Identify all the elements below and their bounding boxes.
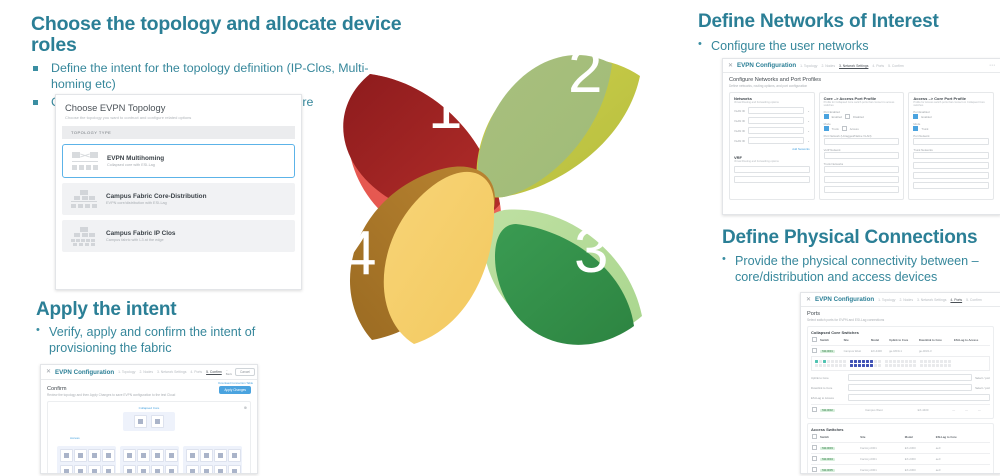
apply-changes-button[interactable]: Apply Changes xyxy=(219,386,251,394)
select-all-checkbox[interactable] xyxy=(811,432,819,443)
access-node-group[interactable] xyxy=(120,446,179,474)
access-node[interactable] xyxy=(123,465,136,474)
close-icon[interactable]: ✕ xyxy=(46,369,51,375)
column-header: Model xyxy=(870,335,888,346)
access-node[interactable] xyxy=(186,465,199,474)
field-row[interactable] xyxy=(913,138,989,145)
cell-switch: SW-0003 xyxy=(819,443,859,454)
breadcrumb-item-active[interactable]: 3. Network Settings xyxy=(839,64,868,68)
access-node[interactable] xyxy=(74,449,87,462)
access-node[interactable] xyxy=(151,465,164,474)
cell-site: Factory-0001 xyxy=(859,443,903,454)
uplink-input[interactable] xyxy=(848,374,972,381)
pinwheel-petal-3 xyxy=(482,209,642,344)
cell-switch: SW-0004 xyxy=(819,454,859,465)
topology-option-desc: Campus fabric with L3 at the edge xyxy=(106,238,176,242)
row-checkbox[interactable] xyxy=(811,405,819,416)
field-row[interactable] xyxy=(913,182,989,189)
cell-model: EX-2300 xyxy=(904,443,935,454)
zoom-icon[interactable]: ⊕ xyxy=(244,405,247,410)
field-row[interactable] xyxy=(824,138,900,145)
breadcrumb-item[interactable]: 4. Ports xyxy=(190,370,202,374)
radio-access[interactable] xyxy=(842,126,847,131)
config-columns: Networks Virtual Routing and Forwarding … xyxy=(729,92,994,200)
field-row[interactable] xyxy=(824,152,900,159)
screenshot-titlebar: ✕ EVPN Configuration 1. Topology 2. Node… xyxy=(723,59,1000,73)
field-row[interactable]: VLAN ID⌄ xyxy=(734,127,810,134)
select-input[interactable] xyxy=(913,138,989,145)
field-row[interactable] xyxy=(824,166,900,173)
chevron-down-icon[interactable]: ⌄ xyxy=(807,129,809,133)
access-node[interactable] xyxy=(165,465,178,474)
column-header: ESI-Lag to Access xyxy=(953,335,990,346)
breadcrumb-item[interactable]: 2. Nodes xyxy=(899,298,913,302)
list-item: Provide the physical connectivity betwee… xyxy=(722,253,1000,285)
screenshot-titlebar: ✕ EVPN Configuration 1. Topology 2. Node… xyxy=(41,365,257,380)
access-node[interactable] xyxy=(214,465,227,474)
topology-option-ip-clos[interactable]: Campus Fabric IP Clos Campus fabric with… xyxy=(62,220,295,252)
topology-option-name: Campus Fabric Core-Distribution xyxy=(106,193,206,200)
radio-enabled[interactable] xyxy=(913,114,918,119)
topology-option-desc: Collapsed core with ESI-Lag xyxy=(107,163,164,167)
cell-downlink: ge-0/0/2-3 xyxy=(918,346,953,357)
pinwheel-number-3: 3 xyxy=(574,217,608,286)
breadcrumb[interactable]: 1. Topology 2. Nodes 3. Network Settings… xyxy=(118,370,222,374)
radio-enabled[interactable] xyxy=(824,114,829,119)
field-label: VLAN ID xyxy=(734,109,745,113)
field-row[interactable]: VLAN ID⌄ xyxy=(734,117,810,124)
core-node-group[interactable] xyxy=(123,412,175,431)
breadcrumb-item[interactable]: 5. Confirm xyxy=(966,298,982,302)
bottom-right-heading: Define Physical Connections xyxy=(722,228,1000,249)
field-input[interactable] xyxy=(748,137,804,144)
breadcrumb-item[interactable]: 5. Confirm xyxy=(888,64,904,68)
screenshot-body: Ports Select switch ports for EVPN and E… xyxy=(801,307,1000,474)
cell-switch: SW-0005 xyxy=(819,465,859,475)
core-to-access-profile-column[interactable]: Core –> Access Port Profile Profile for … xyxy=(819,92,905,200)
page-subtitle: Select switch ports for EVPN and ESI-Lag… xyxy=(807,318,994,322)
collapsed-core-label: Collapsed Core xyxy=(52,406,246,410)
pinwheel-number-1: 1 xyxy=(428,73,462,142)
top-right-bullets: Configure the user networks xyxy=(698,38,998,54)
screenshot-titlebar: ✕ EVPN Configuration 1. Topology 2. Node… xyxy=(801,293,1000,307)
networks-column[interactable]: Networks Virtual Routing and Forwarding … xyxy=(729,92,815,200)
table-header-row: Switch Site Model ESI-Lag to Core xyxy=(811,432,990,443)
select-input[interactable] xyxy=(913,182,989,189)
column-subtitle: Profile for Access switch ports that con… xyxy=(913,101,989,107)
topology-panel-title: Choose EVPN Topology xyxy=(56,95,301,113)
access-node[interactable] xyxy=(123,449,136,462)
cell-esilag: ae0 xyxy=(935,443,990,454)
select-input[interactable] xyxy=(824,152,900,159)
esilag-input[interactable] xyxy=(848,394,990,401)
table-row: SW-0001 Campus West EX-4400 ge-0/0/0-1 g… xyxy=(811,346,990,357)
pinwheel-diagram: 1 2 3 4 xyxy=(315,4,685,404)
collapsed-core-table[interactable]: Switch Site Model Uplink to Core Downlin… xyxy=(811,335,990,356)
breadcrumb-item-active[interactable]: 5. Confirm xyxy=(206,370,222,374)
table-row: SW-0002 Campus West EX-4400 — — — xyxy=(811,405,990,416)
chevron-down-icon[interactable]: ⌄ xyxy=(807,139,809,143)
access-label: Access xyxy=(70,436,246,440)
field-hint: Select / port xyxy=(975,376,990,380)
cell-esilag: — xyxy=(977,405,990,416)
cell-esilag xyxy=(953,346,990,357)
row-checkbox[interactable] xyxy=(811,465,819,475)
chevron-down-icon[interactable]: ⌄ xyxy=(807,119,809,123)
pinwheel-number-4: 4 xyxy=(342,219,376,288)
downlink-field-row[interactable]: Downlink to Core Select / port xyxy=(811,384,990,391)
access-node[interactable] xyxy=(151,449,164,462)
radio-label: Enabled xyxy=(921,115,931,119)
select-input[interactable] xyxy=(824,166,900,173)
breadcrumb-item[interactable]: 1. Topology xyxy=(878,298,895,302)
cell-model: EX-2300 xyxy=(904,454,935,465)
row-checkbox[interactable] xyxy=(811,454,819,465)
access-node[interactable] xyxy=(102,449,115,462)
column-header: Switch xyxy=(819,432,859,443)
port-block-1[interactable] xyxy=(815,360,846,367)
esilag-field-row[interactable]: ESI-Lag to Access xyxy=(811,394,990,401)
access-node[interactable] xyxy=(200,449,213,462)
field-row[interactable] xyxy=(913,152,989,159)
radio-label: Enabled xyxy=(832,115,842,119)
column-header: Uplink to Core xyxy=(888,335,918,346)
column-header: ESI-Lag to Core xyxy=(935,432,990,443)
collapsed-core-table-row2[interactable]: SW-0002 Campus West EX-4400 — — — xyxy=(811,404,990,415)
access-node[interactable] xyxy=(88,465,101,474)
back-button[interactable]: ← Back xyxy=(226,368,232,376)
column-header: Model xyxy=(904,432,935,443)
access-node[interactable] xyxy=(102,465,115,474)
radio-disabled[interactable] xyxy=(845,114,850,119)
bottom-right-bullets: Provide the physical connectivity betwee… xyxy=(722,253,1000,285)
table-row: SW-0003 Factory-0001 EX-2300 ae0 xyxy=(811,443,990,454)
section-bottom-right: Define Physical Connections Provide the … xyxy=(722,228,1000,287)
access-node-group[interactable] xyxy=(183,446,242,474)
field-row[interactable] xyxy=(913,172,989,179)
evpn-multihoming-icon xyxy=(72,152,98,170)
list-item: Verify, apply and confirm the intent of … xyxy=(36,324,316,356)
ip-clos-icon xyxy=(71,227,97,245)
field-label: VLAN ID xyxy=(734,139,745,143)
pinwheel-petal-2 xyxy=(477,55,640,197)
cell-site: Factory-0001 xyxy=(859,465,903,475)
cell-model: EX-2300 xyxy=(904,465,935,475)
field-input[interactable] xyxy=(748,107,804,114)
radio-label: Access xyxy=(850,127,859,131)
cell-model: EX-4400 xyxy=(870,346,888,357)
screenshot-body: Configure Networks and Port Profiles Def… xyxy=(723,73,1000,204)
access-node[interactable] xyxy=(228,465,241,474)
row-checkbox[interactable] xyxy=(811,443,819,454)
breadcrumb-item[interactable]: 1. Topology xyxy=(800,64,817,68)
access-switches-table[interactable]: Switch Site Model ESI-Lag to Core SW-000… xyxy=(811,432,990,474)
cancel-button[interactable]: Cancel xyxy=(235,368,255,376)
radio-row[interactable]: Enabled xyxy=(913,114,989,119)
field-label: VLAN ID xyxy=(734,129,745,133)
page-subtitle: Define networks, routing options, and po… xyxy=(729,84,994,88)
column-header: Site xyxy=(859,432,903,443)
access-node-groups xyxy=(52,446,246,474)
titlebar-actions: ← Back Cancel xyxy=(226,368,255,376)
breadcrumb-item[interactable]: 3. Network Settings xyxy=(157,370,186,374)
select-all-checkbox[interactable] xyxy=(811,335,819,346)
topology-option-core-distribution[interactable]: Campus Fabric Core-Distribution EVPN cor… xyxy=(62,183,295,215)
cell-site: Campus West xyxy=(843,346,870,357)
topology-option-desc: EVPN core/distribution with ESI-Lag xyxy=(106,201,206,205)
column-header: Site xyxy=(843,335,870,346)
section-bottom-left: Apply the intent Verify, apply and confi… xyxy=(36,300,316,358)
field-label: Uplink to Core xyxy=(811,376,845,380)
close-icon[interactable]: ✕ xyxy=(806,297,811,303)
select-input[interactable] xyxy=(913,162,989,169)
page-title: Confirm xyxy=(47,386,219,392)
choose-evpn-topology-panel[interactable]: Choose EVPN Topology Choose the topology… xyxy=(55,94,302,290)
table-header-row: Switch Site Model Uplink to Core Downlin… xyxy=(811,335,990,346)
port-block-4[interactable] xyxy=(920,360,951,367)
access-node[interactable] xyxy=(137,465,150,474)
cell-switch: SW-0001 xyxy=(819,346,843,357)
select-input[interactable] xyxy=(824,138,900,145)
page-title: Ports xyxy=(807,311,994,317)
section-top-right: Define Networks of Interest Configure th… xyxy=(698,12,998,56)
select-input[interactable] xyxy=(913,152,989,159)
radio-row[interactable]: TrunkAccess xyxy=(824,126,900,131)
chevron-down-icon[interactable]: ⌄ xyxy=(807,109,809,113)
access-node[interactable] xyxy=(165,449,178,462)
topology-option-name: EVPN Multihoming xyxy=(107,155,164,162)
radio-row[interactable]: Trunk xyxy=(913,126,989,131)
radio-label: Disabled xyxy=(853,115,864,119)
access-node[interactable] xyxy=(74,465,87,474)
column-header: Downlink to Core xyxy=(918,335,953,346)
pinwheel-number-2: 2 xyxy=(568,37,602,106)
field-row[interactable] xyxy=(824,176,900,183)
confirm-screenshot[interactable]: ✕ EVPN Configuration 1. Topology 2. Node… xyxy=(40,364,258,474)
more-icon[interactable]: ⋯ xyxy=(989,63,995,69)
field-input[interactable] xyxy=(734,176,810,183)
page-subtitle: Review the topology and then Apply Chang… xyxy=(47,393,219,397)
field-input[interactable] xyxy=(748,127,804,134)
field-row[interactable] xyxy=(734,166,810,173)
field-hint: Select / port xyxy=(975,386,990,390)
access-node[interactable] xyxy=(88,449,101,462)
cell-esilag: ae0 xyxy=(935,465,990,475)
breadcrumb-item-active[interactable]: 4. Ports xyxy=(950,298,962,302)
radio-label: Trunk xyxy=(832,127,839,131)
breadcrumb-item[interactable]: 2. Nodes xyxy=(139,370,153,374)
uplink-field-row[interactable]: Uplink to Core Select / port xyxy=(811,374,990,381)
cell-site: Factory-0001 xyxy=(859,454,903,465)
column-subtitle: Virtual Routing and Forwarding options xyxy=(734,101,810,104)
cell-downlink: — xyxy=(964,405,977,416)
add-networks-link[interactable]: Add Networks xyxy=(734,147,810,151)
cell-model: EX-4400 xyxy=(917,405,952,416)
ports-screenshot[interactable]: ✕ EVPN Configuration 1. Topology 2. Node… xyxy=(800,292,1000,474)
field-input[interactable] xyxy=(748,117,804,124)
field-label: Downlink to Core xyxy=(811,386,845,390)
radio-row[interactable]: EnabledDisabled xyxy=(824,114,900,119)
radio-trunk[interactable] xyxy=(824,126,829,131)
field-row[interactable]: VLAN ID⌄ xyxy=(734,137,810,144)
access-node[interactable] xyxy=(228,449,241,462)
core-node[interactable] xyxy=(151,415,164,428)
port-block-2[interactable] xyxy=(850,360,881,367)
table-row: SW-0005 Factory-0001 EX-2300 ae0 xyxy=(811,465,990,475)
field-label: ESI-Lag to Access xyxy=(811,396,845,400)
field-row[interactable] xyxy=(734,176,810,183)
list-item: Configure the user networks xyxy=(698,38,998,54)
topology-option-evpn-multihoming[interactable]: EVPN Multihoming Collapsed core with ESI… xyxy=(62,144,295,178)
app-title: EVPN Configuration xyxy=(737,62,796,69)
column-subtitle: Profile for Collapsed Core switch ports … xyxy=(824,101,900,107)
close-icon[interactable]: ✕ xyxy=(728,63,733,69)
cell-uplink: ge-0/0/0-1 xyxy=(888,346,918,357)
breadcrumb-item[interactable]: 1. Topology xyxy=(118,370,135,374)
select-input[interactable] xyxy=(824,186,900,193)
access-to-core-profile-column[interactable]: Access –> Core Port Profile Profile for … xyxy=(908,92,994,200)
app-title: EVPN Configuration xyxy=(55,369,114,376)
select-input[interactable] xyxy=(824,176,900,183)
breadcrumb[interactable]: 1. Topology 2. Nodes 3. Network Settings… xyxy=(800,64,904,68)
access-node[interactable] xyxy=(60,449,73,462)
field-label: VLAN ID xyxy=(734,119,745,123)
networks-settings-screenshot[interactable]: ✕ EVPN Configuration 1. Topology 2. Node… xyxy=(722,58,1000,215)
access-node[interactable] xyxy=(186,449,199,462)
vrf-subtitle: Virtual Routing and Forwarding options xyxy=(734,160,810,163)
downlink-input[interactable] xyxy=(848,384,972,391)
topology-option-text: EVPN Multihoming Collapsed core with ESI… xyxy=(107,155,164,168)
page-title: Configure Networks and Port Profiles xyxy=(729,77,994,83)
breadcrumb-item[interactable]: 2. Nodes xyxy=(821,64,835,68)
breadcrumb[interactable]: 1. Topology 2. Nodes 3. Network Settings… xyxy=(878,298,982,302)
topology-option-text: Campus Fabric Core-Distribution EVPN cor… xyxy=(106,193,206,206)
core-distribution-icon xyxy=(71,190,97,208)
cell-uplink: — xyxy=(951,405,964,416)
row-checkbox[interactable] xyxy=(811,346,819,357)
topology-option-name: Campus Fabric IP Clos xyxy=(106,230,176,237)
radio-trunk[interactable] xyxy=(913,126,918,131)
radio-label: Trunk xyxy=(921,127,928,131)
screenshot-body: Confirm Review the topology and then App… xyxy=(41,386,257,474)
top-right-heading: Define Networks of Interest xyxy=(698,12,998,33)
field-row[interactable] xyxy=(913,162,989,169)
access-node[interactable] xyxy=(60,465,73,474)
field-row[interactable]: VLAN ID⌄ xyxy=(734,107,810,114)
topology-option-text: Campus Fabric IP Clos Campus fabric with… xyxy=(106,230,176,243)
cell-site: Campus West xyxy=(864,405,917,416)
topology-panel-subtitle: Choose the topology you want to contruct… xyxy=(56,113,301,126)
bottom-left-heading: Apply the intent xyxy=(36,300,316,321)
access-node[interactable] xyxy=(137,449,150,462)
port-block-3[interactable] xyxy=(885,360,916,367)
cell-esilag: ae0 xyxy=(935,454,990,465)
access-node[interactable] xyxy=(200,465,213,474)
select-input[interactable] xyxy=(913,172,989,179)
breadcrumb-item[interactable]: 3. Network Settings xyxy=(917,298,946,302)
access-node[interactable] xyxy=(214,449,227,462)
field-input[interactable] xyxy=(734,166,810,173)
bottom-left-bullets: Verify, apply and confirm the intent of … xyxy=(36,324,316,356)
topology-type-header: TOPOLOGY TYPE xyxy=(62,126,295,139)
port-map[interactable] xyxy=(811,356,990,371)
core-node[interactable] xyxy=(134,415,147,428)
cell-switch: SW-0002 xyxy=(819,405,864,416)
app-title: EVPN Configuration xyxy=(815,296,874,303)
table-row: SW-0004 Factory-0001 EX-2300 ae0 xyxy=(811,454,990,465)
titlebar-actions: ⋯ xyxy=(989,63,995,69)
column-header: Switch xyxy=(819,335,843,346)
access-node-group[interactable] xyxy=(57,446,116,474)
field-row[interactable] xyxy=(824,186,900,193)
breadcrumb-item[interactable]: 4. Ports xyxy=(872,64,884,68)
